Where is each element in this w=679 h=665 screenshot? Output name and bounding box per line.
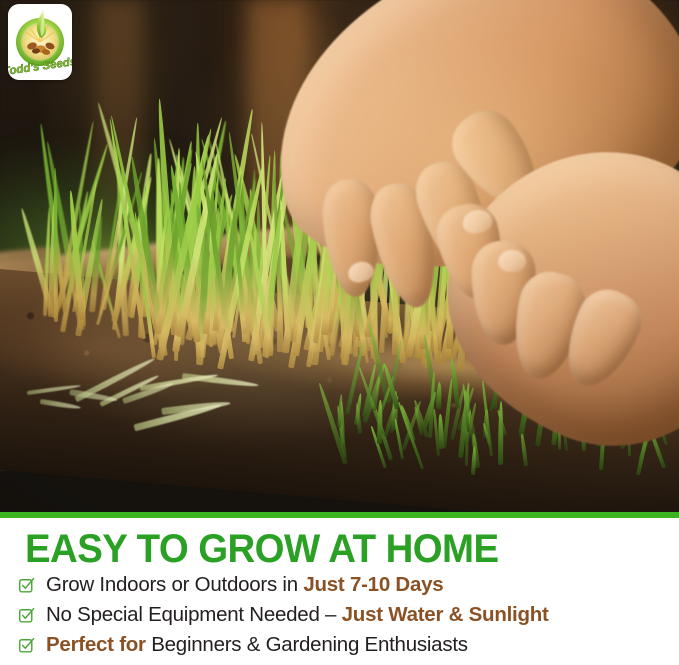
checkbox-check-icon-icon (18, 607, 35, 624)
promo-text-block: EASY TO GROW AT HOME Grow Indoors or Out… (0, 518, 679, 665)
checkbox-check-icon-icon (18, 577, 35, 594)
product-promo-card: Todd's Seeds EASY TO GROW AT HOME Grow I… (0, 0, 679, 665)
checkbox-check-icon-icon (18, 637, 35, 654)
fingernail (498, 250, 526, 272)
feature-emphasis-text: Just Water & Sunlight (342, 603, 549, 626)
feature-plain-text: Grow Indoors or Outdoors in (46, 573, 303, 596)
feature-list-item: No Special Equipment Needed – Just Water… (18, 600, 673, 630)
feature-list-item-label: No Special Equipment Needed – Just Water… (46, 603, 549, 627)
product-photo: Todd's Seeds (0, 0, 679, 512)
feature-list-item-label: Perfect for Beginners & Gardening Enthus… (46, 633, 468, 657)
feature-list-item-label: Grow Indoors or Outdoors in Just 7-10 Da… (46, 573, 443, 597)
feature-emphasis-text: Just 7-10 Days (303, 573, 443, 596)
page-title: EASY TO GROW AT HOME (25, 528, 498, 570)
feature-list: Grow Indoors or Outdoors in Just 7-10 Da… (18, 570, 673, 660)
feature-plain-text: No Special Equipment Needed – (46, 603, 342, 626)
brand-logo[interactable]: Todd's Seeds (8, 4, 72, 80)
seed-sprout-emblem-logo-icon: Todd's Seeds (8, 4, 72, 80)
photo-scene (0, 0, 679, 512)
feature-plain-text: Beginners & Gardening Enthusiasts (151, 633, 468, 656)
feature-list-item: Perfect for Beginners & Gardening Enthus… (18, 630, 673, 660)
feature-list-item: Grow Indoors or Outdoors in Just 7-10 Da… (18, 570, 673, 600)
feature-emphasis-text: Perfect for (46, 633, 151, 656)
